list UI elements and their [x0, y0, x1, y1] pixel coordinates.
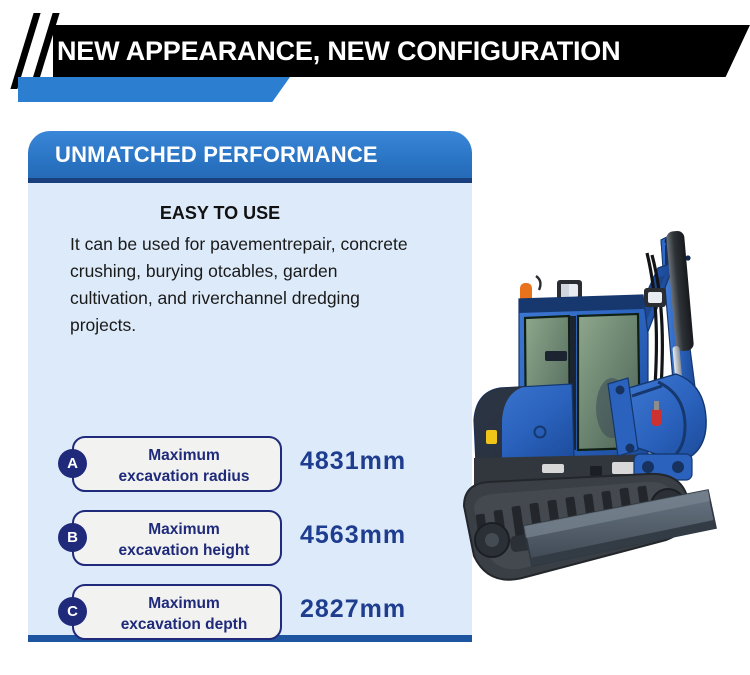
spec-badge: A	[58, 449, 87, 478]
spec-value: 2827mm	[300, 595, 406, 624]
spec-value: 4563mm	[300, 521, 406, 550]
excavator-product-image: RED PRO	[462, 158, 750, 598]
spec-pill: Maximum excavation depth	[72, 584, 282, 640]
spec-badge: C	[58, 597, 87, 626]
spec-label: Maximum excavation radius	[96, 445, 272, 487]
spec-pill: Maximum excavation radius	[72, 436, 282, 492]
spec-badge: B	[58, 523, 87, 552]
card-subheading: EASY TO USE	[28, 203, 472, 224]
page-title: NEW APPEARANCE, NEW CONFIGURATION	[57, 31, 717, 71]
work-light-icon	[644, 288, 666, 307]
card-description: It can be used for pavementrepair, concr…	[70, 231, 425, 339]
spec-label: Maximum excavation depth	[96, 593, 272, 635]
card-title: UNMATCHED PERFORMANCE	[55, 142, 378, 168]
header-blue-accent-bar	[18, 77, 290, 102]
performance-card: UNMATCHED PERFORMANCE EASY TO USE It can…	[28, 131, 472, 642]
spec-label-line1: Maximum	[148, 521, 220, 538]
spec-pill: Maximum excavation height	[72, 510, 282, 566]
spec-label-line1: Maximum	[148, 447, 220, 464]
spec-label-line1: Maximum	[148, 595, 220, 612]
spec-label-line2: excavation radius	[119, 468, 250, 485]
spec-label-line2: excavation height	[119, 542, 250, 559]
spec-label: Maximum excavation height	[96, 519, 272, 561]
spec-row: C Maximum excavation depth 2827mm	[58, 584, 448, 640]
card-body: EASY TO USE It can be used for pavementr…	[28, 183, 472, 642]
spec-label-line2: excavation depth	[121, 616, 248, 633]
spec-row: A Maximum excavation radius 4831mm	[58, 436, 448, 492]
card-header: UNMATCHED PERFORMANCE	[28, 131, 472, 183]
spec-value: 4831mm	[300, 447, 406, 476]
header-banner: NEW APPEARANCE, NEW CONFIGURATION	[0, 0, 750, 120]
spec-row: B Maximum excavation height 4563mm	[58, 510, 448, 566]
